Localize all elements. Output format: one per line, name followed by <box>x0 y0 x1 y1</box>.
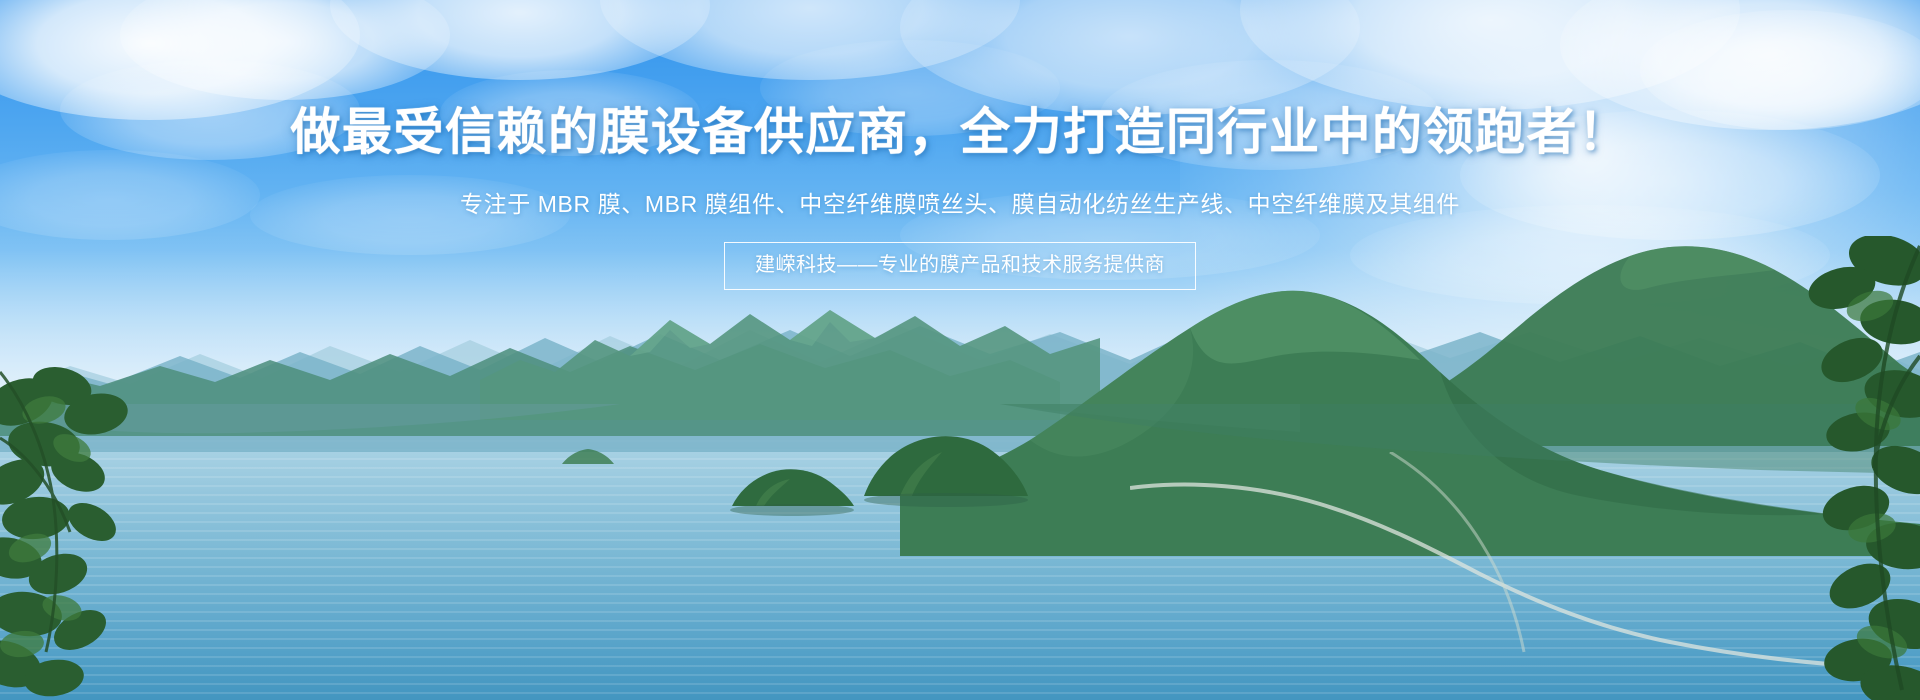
banner-content: 做最受信赖的膜设备供应商，全力打造同行业中的领跑者！ 专注于 MBR 膜、MBR… <box>0 0 1920 700</box>
hero-banner: 做最受信赖的膜设备供应商，全力打造同行业中的领跑者！ 专注于 MBR 膜、MBR… <box>0 0 1920 700</box>
banner-headline: 做最受信赖的膜设备供应商，全力打造同行业中的领跑者！ <box>0 104 1920 160</box>
banner-tagline: 建嵘科技——专业的膜产品和技术服务提供商 <box>724 242 1196 290</box>
banner-tagline-wrapper: 建嵘科技——专业的膜产品和技术服务提供商 <box>0 242 1920 290</box>
banner-subtitle: 专注于 MBR 膜、MBR 膜组件、中空纤维膜喷丝头、膜自动化纺丝生产线、中空纤… <box>0 188 1920 220</box>
